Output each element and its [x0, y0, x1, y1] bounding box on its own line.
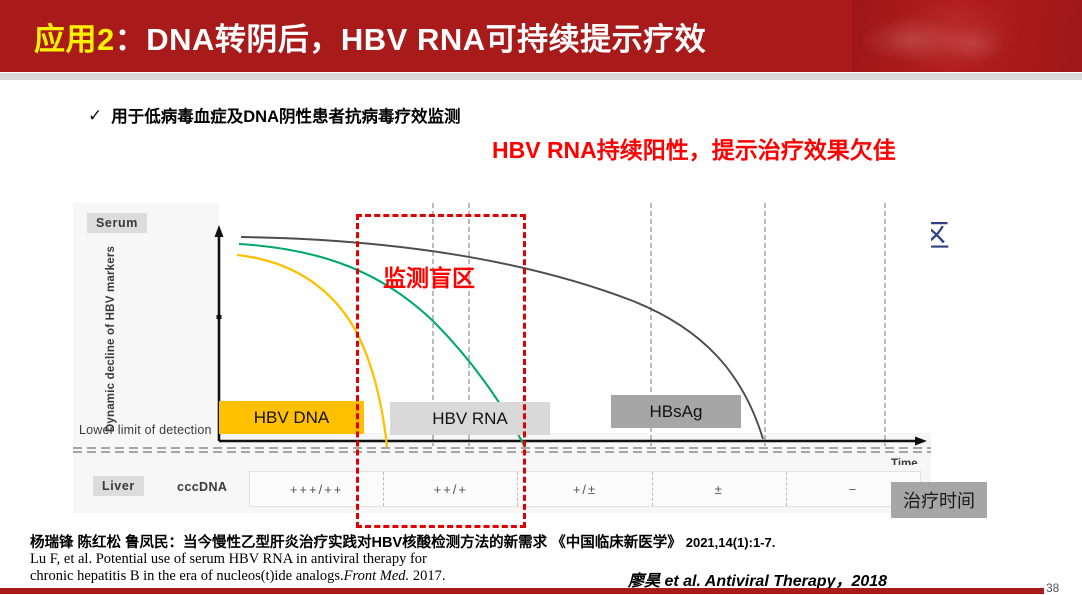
cccdna-cell: +/± [518, 472, 652, 506]
liver-label: Liver [93, 476, 144, 496]
check-icon: ✓ [88, 107, 102, 124]
treatment-time-label: 治疗时间 [891, 482, 987, 518]
red-callout-text: HBV RNA持续阳性，提示治疗效果欠佳 [492, 131, 896, 165]
title-highlight: 应用2 [34, 22, 115, 57]
y-axis-arrow [215, 225, 224, 237]
page-title: 应用2：DNA转阴后，HBV RNA可持续提示疗效 [34, 14, 706, 59]
cccdna-level-row: +++/++ ++/+ +/± ± − [249, 471, 921, 507]
citation-cn-volume: 2021,14(1):1-7. [686, 535, 776, 550]
blind-zone-label: 监测盲区 [383, 259, 475, 293]
marker-chip-hbv-dna: HBV DNA [219, 401, 364, 434]
cccdna-cell: ± [653, 472, 787, 506]
footer-bar [0, 588, 1044, 594]
title-rest: ：DNA转阴后，HBV RNA可持续提示疗效 [115, 22, 706, 57]
x-axis-arrow [915, 437, 927, 446]
liver-illustration-icon [852, 0, 1082, 72]
bullet-text: 用于低病毒血症及DNA阴性患者抗病毒疗效监测 [111, 103, 460, 127]
y-axis-tick [217, 315, 222, 319]
citation-chinese: 杨瑞锋 陈红松 鲁凤民：当今慢性乙型肝炎治疗实践对HBV核酸检测方法的新需求 《… [30, 531, 775, 552]
marker-chip-hbsag: HBsAg [611, 395, 741, 428]
header-divider [0, 72, 1082, 80]
citation-cn-authors: 杨瑞锋 陈红松 鲁凤民：当今慢性乙型肝炎治疗实践对HBV核酸检测方法的新需求 《… [30, 535, 682, 551]
citation-en-line1: Lu F, et al. Potential use of serum HBV … [30, 551, 427, 567]
citation-en-line2a: chronic hepatitis B in the era of nucleo… [30, 568, 344, 584]
bullet-row: ✓ 用于低病毒血症及DNA阴性患者抗病毒疗效监测 [88, 103, 461, 127]
slide-number: 38 [1046, 581, 1059, 595]
citation-en-year: 2017. [409, 568, 445, 584]
cccdna-label: cccDNA [177, 480, 227, 494]
citation-en-journal: Front Med. [344, 568, 410, 584]
header-bar: 应用2：DNA转阴后，HBV RNA可持续提示疗效 [0, 0, 1082, 72]
citation-english: Lu F, et al. Potential use of serum HBV … [30, 551, 590, 585]
